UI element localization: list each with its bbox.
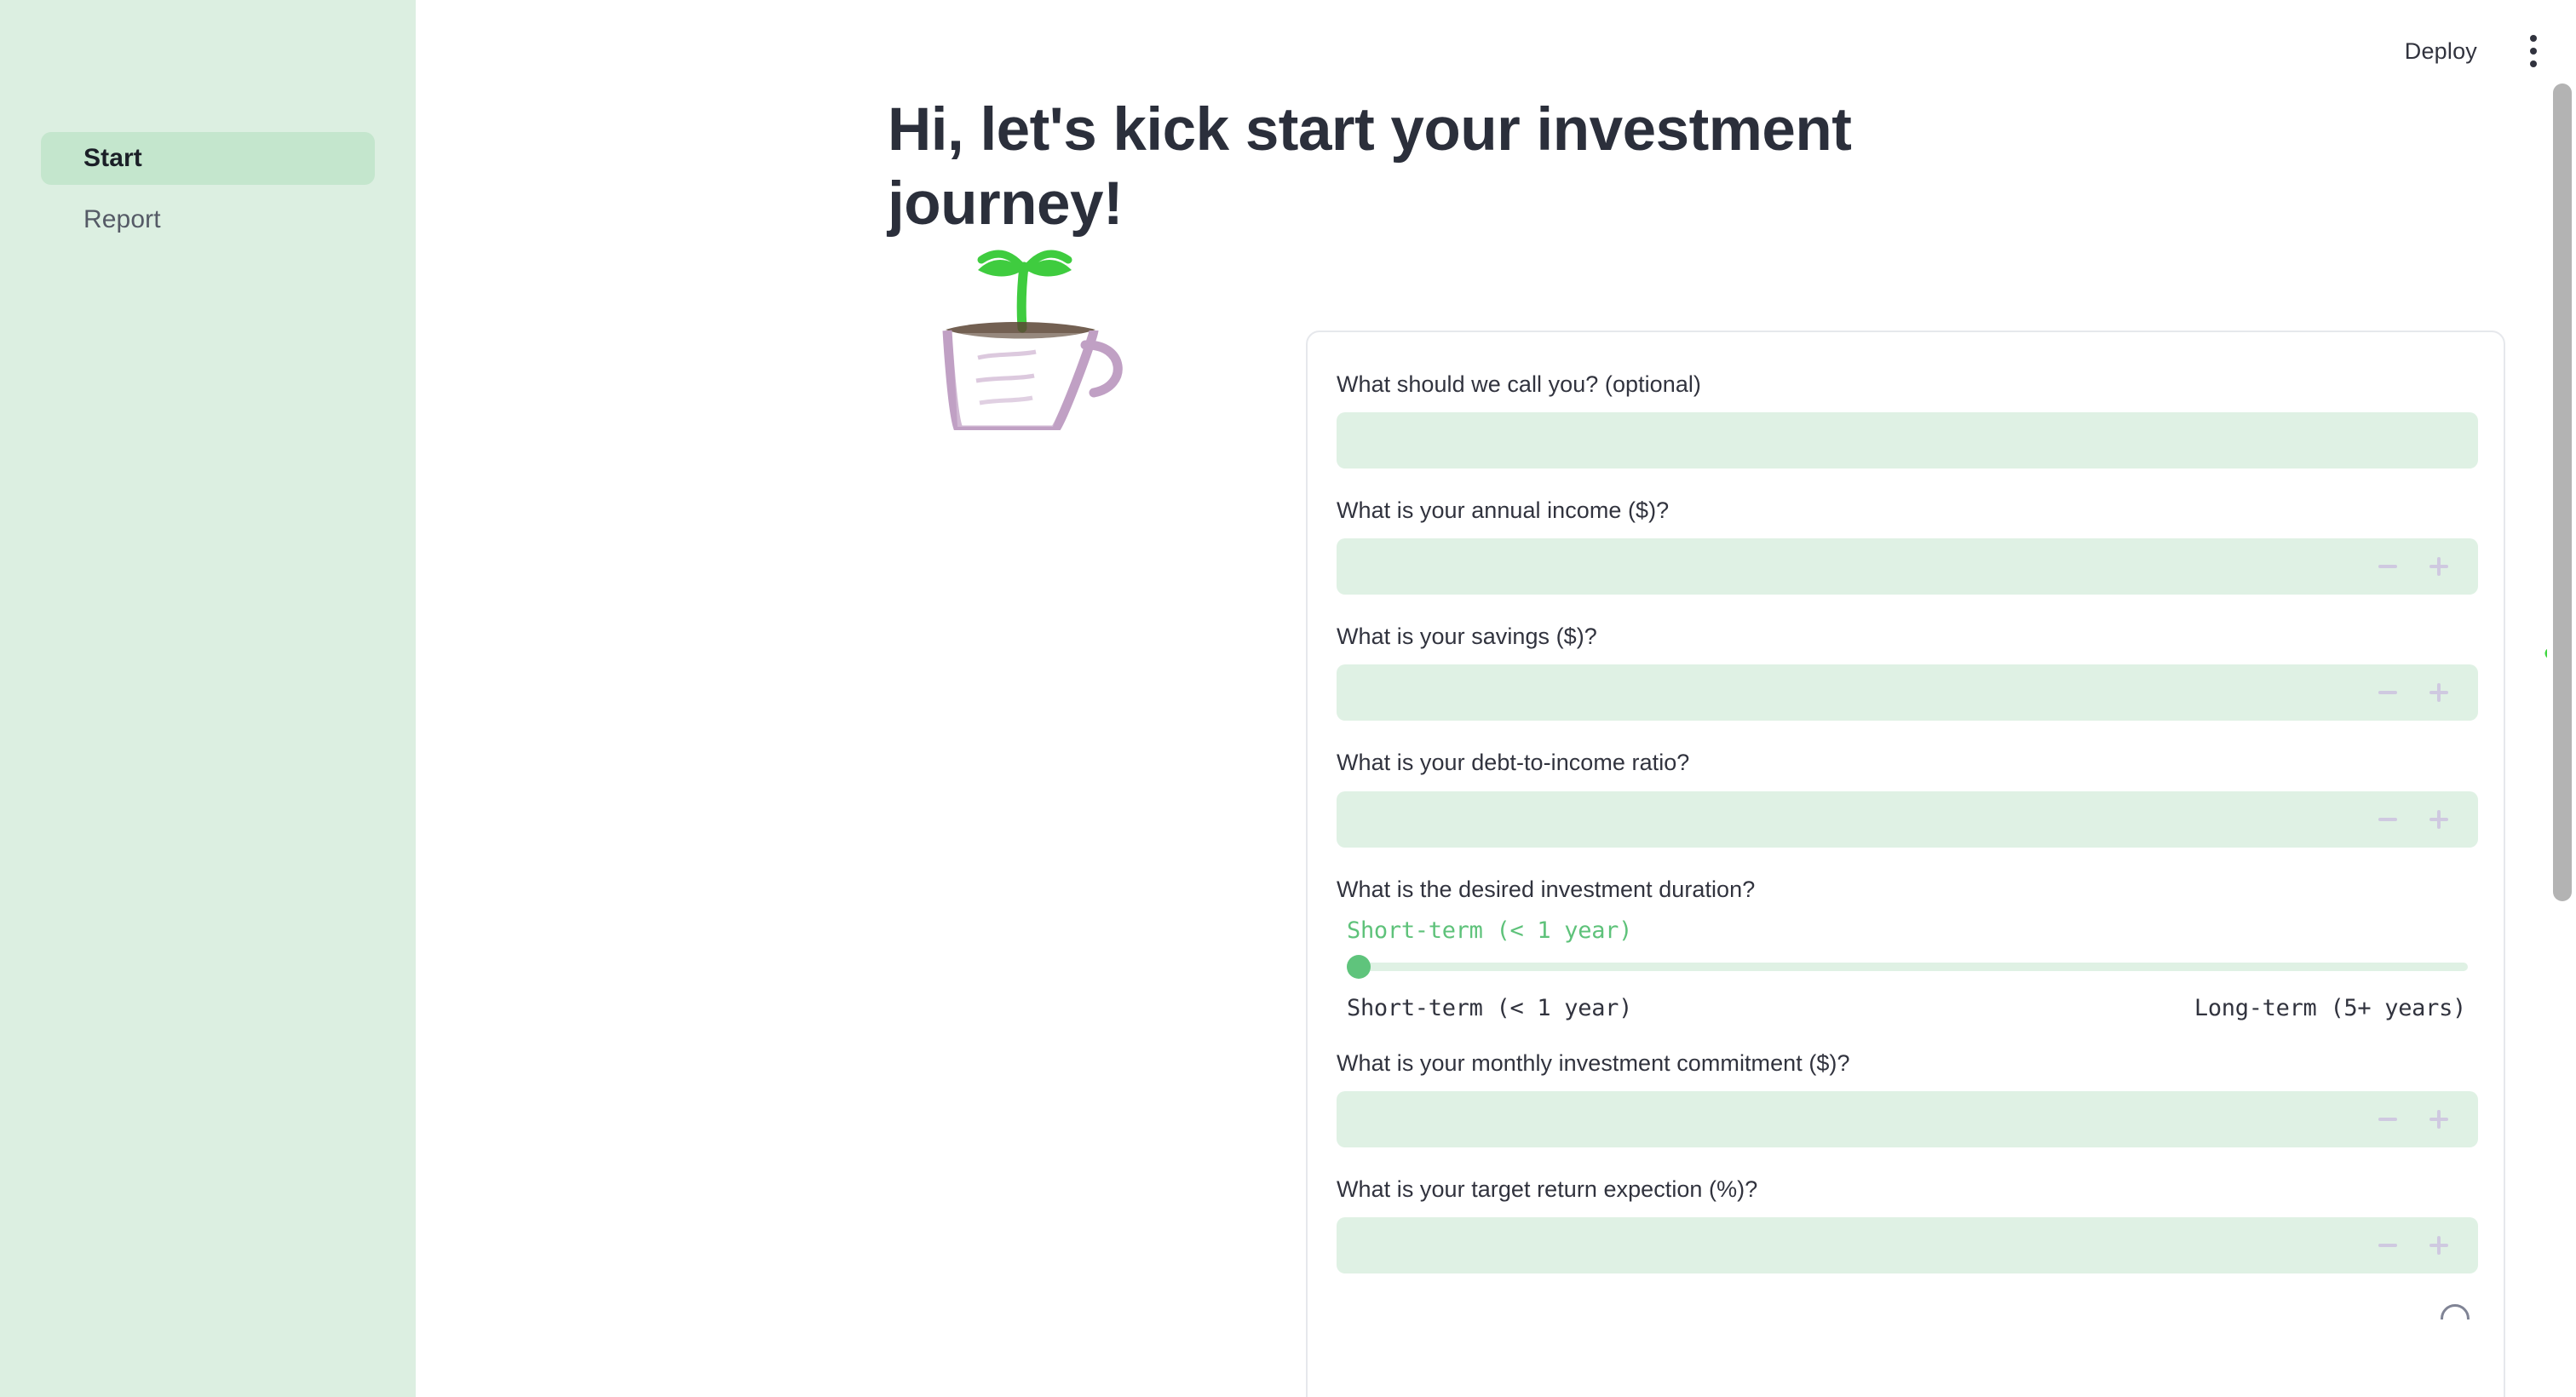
target-return-input-shell[interactable] xyxy=(1337,1217,2478,1273)
monthly-commitment-stepper xyxy=(2372,1103,2477,1135)
app-root: Start Report Hi, let's kick start your i… xyxy=(0,0,2576,1397)
minus-icon[interactable] xyxy=(2372,803,2404,836)
plus-icon[interactable] xyxy=(2423,1229,2455,1262)
page-scrollbar-track[interactable] xyxy=(2547,0,2576,1397)
field-annual-income: What is your annual income ($)? xyxy=(1337,494,2475,595)
field-label: What is your savings ($)? xyxy=(1337,620,2475,653)
minus-icon[interactable] xyxy=(2372,1229,2404,1262)
annual-income-stepper xyxy=(2372,550,2477,583)
target-return-input[interactable] xyxy=(1337,1218,2372,1273)
field-monthly-commitment: What is your monthly investment commitme… xyxy=(1337,1047,2475,1147)
deploy-button[interactable]: Deploy xyxy=(2386,30,2496,73)
sidebar-item-label: Start xyxy=(83,144,142,172)
debt-to-income-stepper xyxy=(2372,803,2477,836)
slider-thumb[interactable] xyxy=(1347,955,1371,979)
sidebar-item-start[interactable]: Start xyxy=(41,132,375,185)
plus-icon[interactable] xyxy=(2423,803,2455,836)
field-label: What is your target return expection (%)… xyxy=(1337,1173,2475,1206)
plus-icon[interactable] xyxy=(2423,676,2455,709)
field-label: What is your monthly investment commitme… xyxy=(1337,1047,2475,1080)
debt-to-income-input[interactable] xyxy=(1337,792,2372,847)
monthly-commitment-input[interactable] xyxy=(1337,1092,2372,1147)
field-name: What should we call you? (optional) xyxy=(1337,368,2475,469)
help-circle-icon[interactable] xyxy=(2441,1304,2470,1319)
name-input[interactable] xyxy=(1337,413,2477,468)
field-debt-to-income: What is your debt-to-income ratio? xyxy=(1337,746,2475,847)
field-label: What is the desired investment duration? xyxy=(1337,873,2475,906)
annual-income-input[interactable] xyxy=(1337,539,2372,594)
target-return-stepper xyxy=(2372,1229,2477,1262)
savings-input-shell[interactable] xyxy=(1337,664,2478,721)
plus-icon[interactable] xyxy=(2423,550,2455,583)
slider-track[interactable] xyxy=(1355,963,2468,971)
debt-to-income-input-shell[interactable] xyxy=(1337,791,2478,848)
field-label: What is your debt-to-income ratio? xyxy=(1337,746,2475,779)
sidebar-item-label: Report xyxy=(83,205,161,233)
topbar: Deploy xyxy=(2386,0,2576,102)
minus-icon[interactable] xyxy=(2372,550,2404,583)
kebab-dot xyxy=(2530,60,2537,67)
sidebar: Start Report xyxy=(0,0,416,1397)
slider-max-label: Long-term (5+ years) xyxy=(2194,995,2466,1021)
savings-input[interactable] xyxy=(1337,665,2372,720)
monthly-commitment-input-shell[interactable] xyxy=(1337,1091,2478,1147)
minus-icon[interactable] xyxy=(2372,676,2404,709)
investment-form-card: What should we call you? (optional) What… xyxy=(1306,331,2505,1397)
kebab-dot xyxy=(2530,48,2537,55)
slider-current-value: Short-term (< 1 year) xyxy=(1347,917,2478,944)
kebab-menu-icon[interactable] xyxy=(2506,24,2561,78)
slider-end-labels: Short-term (< 1 year) Long-term (5+ year… xyxy=(1347,983,2478,1021)
plus-icon[interactable] xyxy=(2423,1103,2455,1135)
savings-stepper xyxy=(2372,676,2477,709)
field-savings: What is your savings ($)? xyxy=(1337,620,2475,721)
field-label: What is your annual income ($)? xyxy=(1337,494,2475,527)
field-target-return: What is your target return expection (%)… xyxy=(1337,1173,2475,1273)
page-scrollbar-thumb[interactable] xyxy=(2553,83,2572,901)
field-label: What should we call you? (optional) xyxy=(1337,368,2475,401)
field-investment-duration: What is the desired investment duration?… xyxy=(1337,873,2475,1021)
main-content: Hi, let's kick start your investment jou… xyxy=(416,0,2576,1397)
sidebar-nav: Start Report xyxy=(41,132,375,246)
minus-icon[interactable] xyxy=(2372,1103,2404,1135)
investment-duration-slider[interactable]: Short-term (< 1 year) Short-term (< 1 ye… xyxy=(1337,917,2478,1021)
annual-income-input-shell[interactable] xyxy=(1337,538,2478,595)
kebab-dot xyxy=(2530,35,2537,42)
field-clipped-next xyxy=(1337,1299,2475,1319)
slider-min-label: Short-term (< 1 year) xyxy=(1347,995,1632,1021)
name-input-shell[interactable] xyxy=(1337,412,2478,469)
page-title: Hi, let's kick start your investment jou… xyxy=(888,94,2080,241)
sidebar-item-report[interactable]: Report xyxy=(41,193,375,246)
slider-track-row[interactable] xyxy=(1347,956,2478,978)
